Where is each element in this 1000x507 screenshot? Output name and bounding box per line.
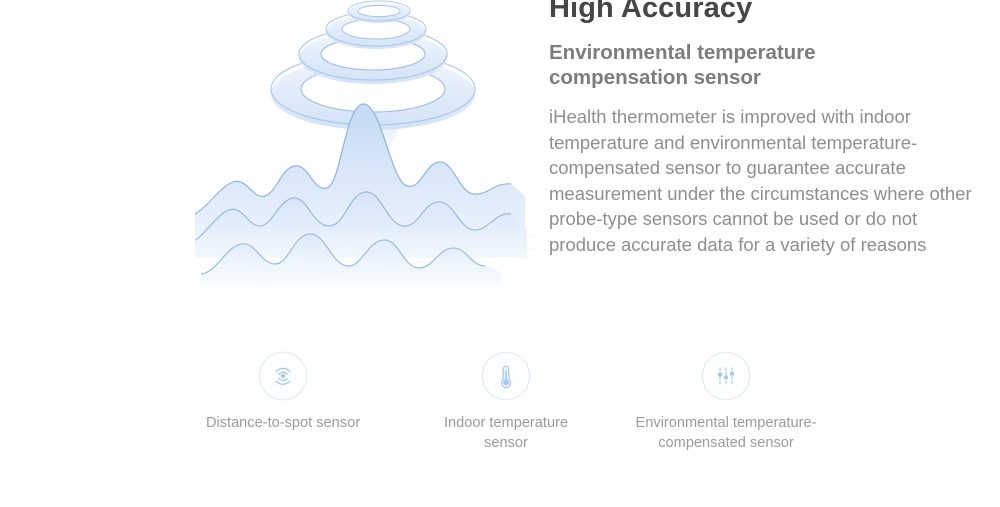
product-feature-page: High Accuracy Environmental temperature … <box>0 0 1000 507</box>
feature-label: Environmental temperature-compensated se… <box>613 414 839 453</box>
page-body-text: iHealth thermometer is improved with ind… <box>549 104 981 257</box>
feature-item-environmental-compensated: Environmental temperature-compensated se… <box>613 352 839 453</box>
feature-label: Distance-to-spot sensor <box>203 414 363 434</box>
feature-item-distance-to-spot: Distance-to-spot sensor <box>203 352 363 434</box>
sliders-icon <box>702 352 750 400</box>
feature-text-column: High Accuracy Environmental temperature … <box>549 0 989 257</box>
feature-label: Indoor temperature sensor <box>426 414 586 453</box>
distance-to-spot-icon <box>259 352 307 400</box>
page-subtitle: Environmental temperature compensation s… <box>549 40 889 90</box>
page-title: High Accuracy <box>549 0 989 28</box>
feature-item-indoor-temperature: Indoor temperature sensor <box>426 352 586 453</box>
thermometer-icon <box>482 352 530 400</box>
signal-rings-over-terrain-illustration <box>195 0 555 306</box>
